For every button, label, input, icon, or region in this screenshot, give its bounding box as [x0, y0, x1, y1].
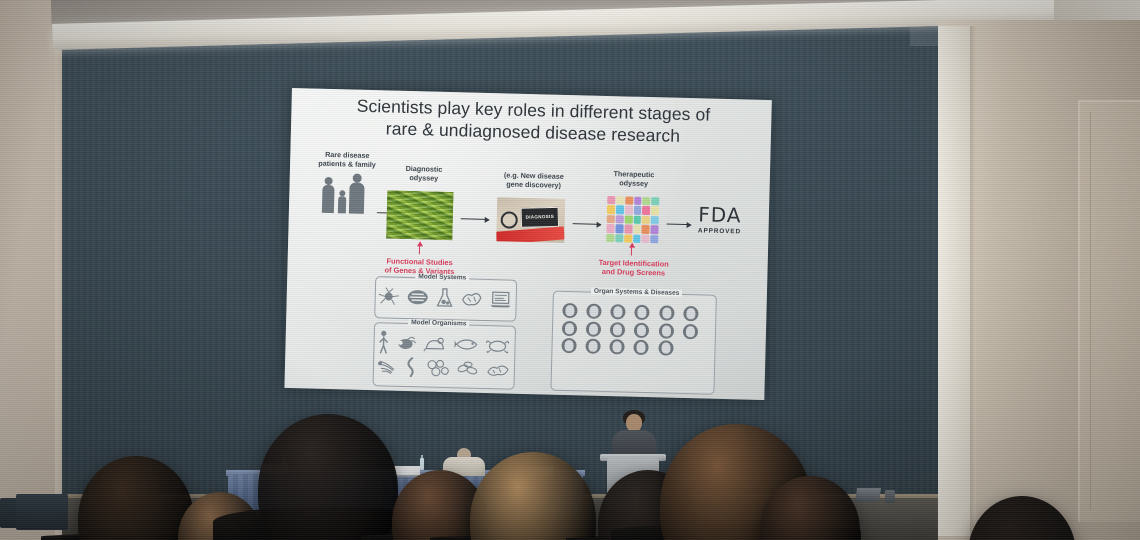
label-line-2: gene discovery) — [506, 179, 561, 189]
stage-monitor-secondary — [16, 494, 68, 530]
label-line-2: odyssey — [619, 178, 648, 188]
pill-cell — [651, 207, 659, 216]
pill-cell — [624, 215, 632, 224]
door-jamb — [938, 26, 972, 536]
bacteria-icon — [456, 360, 480, 377]
neuron-icon — [378, 286, 400, 307]
callout-arrow-1 — [419, 245, 420, 254]
stage-label-diagnostic-odyssey: Diagnostic odyssey — [396, 165, 452, 184]
diagnosis-photo: DIAGNOSIS — [496, 197, 565, 243]
family-silhouette-icon — [319, 173, 374, 216]
fda-mark: FDA — [689, 202, 752, 228]
stomach-icon — [683, 323, 698, 338]
flow-arrow-4 — [667, 224, 691, 226]
muscle-icon — [610, 339, 625, 354]
pill-cell — [607, 205, 615, 214]
cell-division-icon — [658, 340, 673, 355]
stage-label-therapeutic-odyssey: Therapeutic odyssey — [606, 170, 662, 189]
fda-sub: APPROVED — [688, 227, 750, 236]
stage-laptop — [855, 488, 881, 502]
wall-panel-frame-inner — [1090, 112, 1140, 510]
fetus-icon — [586, 339, 601, 354]
pill-cell — [642, 206, 650, 215]
pill-cell — [625, 196, 633, 205]
hand-icon — [586, 321, 601, 336]
model-organisms-icons-row1 — [373, 330, 514, 358]
fly-icon — [396, 335, 416, 352]
callout-target-identification: Target Identification and Drug Screens — [591, 258, 675, 279]
fda-approved-icon: FDA APPROVED — [688, 202, 751, 236]
pill-cell — [633, 206, 641, 215]
pill-cell — [642, 216, 650, 225]
pill-cell — [642, 225, 650, 234]
mouse-icon — [423, 335, 447, 352]
flow-arrow-3 — [573, 223, 601, 225]
callout-arrow-2 — [631, 247, 632, 256]
panel-title-model-systems: Model Systems — [415, 273, 469, 281]
pill-cell — [633, 225, 641, 234]
kidney-icon — [658, 323, 673, 338]
pill-cell — [634, 197, 642, 206]
ear-icon — [635, 305, 650, 320]
stage-label-patients: Rare disease patients & family — [304, 150, 390, 170]
cell-culture-dish-icon — [407, 288, 429, 307]
brain-icon — [586, 304, 601, 319]
pill-cell — [642, 234, 650, 243]
organ-systems-icons — [561, 303, 704, 357]
pill-cell — [606, 234, 614, 243]
conference-hall-photo: Scientists play key roles in different s… — [0, 0, 1140, 540]
stethoscope-icon — [501, 211, 518, 228]
pill-cell — [633, 215, 641, 224]
pill-cell — [651, 225, 659, 234]
door-jamb-edge — [970, 26, 976, 536]
model-systems-icons — [375, 286, 515, 310]
pill-cell — [625, 206, 633, 215]
planaria-icon — [376, 357, 398, 376]
pill-cell — [650, 235, 658, 244]
slide-title: Scientists play key roles in different s… — [319, 95, 748, 149]
label-line-2: patients & family — [318, 158, 376, 168]
hedge-maze-image — [386, 190, 453, 240]
zebrafish-icon — [455, 336, 479, 353]
nervous-system-icon — [561, 338, 576, 353]
label-line-2: odyssey — [409, 173, 438, 183]
heart-icon — [610, 322, 625, 337]
computational-laptop-icon — [489, 290, 511, 309]
pill-cell — [615, 234, 623, 243]
yeast-icon — [426, 358, 450, 377]
blood-cell-icon — [634, 340, 649, 355]
pill-cell — [616, 206, 624, 215]
pill-cell — [642, 197, 650, 206]
projection-screen: Scientists play key roles in different s… — [284, 88, 771, 400]
pill-cell — [606, 224, 614, 233]
spine-icon — [562, 320, 577, 335]
pill-cell — [607, 215, 615, 224]
pill-cell — [616, 215, 624, 224]
c-elegans-icon — [486, 361, 510, 378]
eye-icon — [611, 304, 626, 319]
flow-arrow-2 — [461, 218, 489, 220]
photo-red-band — [496, 226, 565, 243]
pill-grid-image — [606, 196, 659, 243]
flask-organoid-icon — [435, 288, 454, 308]
water-bottle — [420, 458, 424, 470]
human-icon — [377, 330, 390, 354]
head-neck-icon — [562, 303, 577, 318]
lung-icon — [659, 305, 674, 320]
callout-line-2: and Drug Screens — [602, 267, 665, 278]
pill-cell — [616, 196, 624, 205]
pill-cell — [615, 224, 623, 233]
pill-cell — [607, 196, 615, 205]
pill-cell — [633, 234, 641, 243]
skeleton-icon — [683, 306, 698, 321]
stage-label-gene-discovery: (e.g. New disease gene discovery) — [494, 171, 574, 191]
stage-equipment-box — [885, 490, 895, 503]
diagnosis-board-text: DIAGNOSIS — [521, 207, 560, 228]
worm-icon — [404, 357, 421, 377]
xenopus-icon — [486, 337, 510, 354]
pill-cell — [651, 216, 659, 225]
immune-icon — [634, 322, 649, 337]
model-organisms-icons-row2 — [373, 356, 513, 380]
pill-cell — [624, 234, 632, 243]
tissue-icon — [460, 289, 482, 308]
pill-cell — [651, 197, 659, 206]
pill-cell — [624, 225, 632, 234]
